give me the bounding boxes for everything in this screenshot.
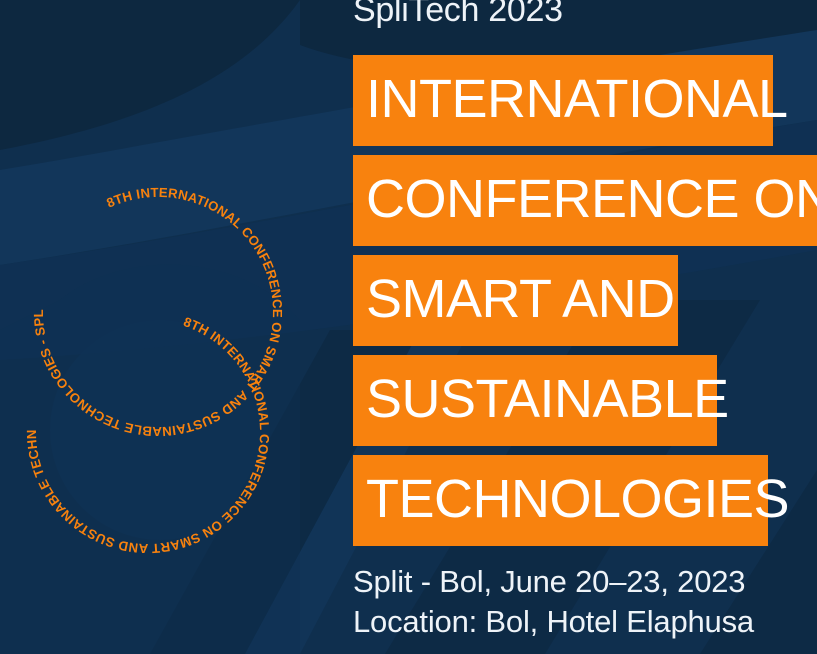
headline-bar-international: INTERNATIONAL xyxy=(353,55,773,146)
splitech-2023-poster: 8TH INTERNATIONAL CONFERENCE ON SMART AN… xyxy=(0,0,817,654)
headline-bar-sustainable: SUSTAINABLE xyxy=(353,355,717,446)
event-details: Split - Bol, June 20–23, 2023 Location: … xyxy=(353,562,754,641)
logo-svg: 8TH INTERNATIONAL CONFERENCE ON SMART AN… xyxy=(8,62,308,562)
logo-ring-text-lower: 8TH INTERNATIONAL CONFERENCE ON SMART AN… xyxy=(3,50,272,556)
event-location-line: Location: Bol, Hotel Elaphusa xyxy=(353,602,754,642)
headline-bar-label: CONFERENCE ON xyxy=(353,172,817,226)
event-dates-line: Split - Bol, June 20–23, 2023 xyxy=(353,562,754,602)
page-title: SpliTech 2023 xyxy=(353,0,563,27)
logo-ring-textpath-lower: 8TH INTERNATIONAL CONFERENCE ON SMART AN… xyxy=(3,50,272,556)
headline-bar-smart-and: SMART AND xyxy=(353,255,678,346)
logo-ring-textpath-upper: 8TH INTERNATIONAL CONFERENCE ON SMART AN… xyxy=(3,50,285,439)
poster-content-column: SpliTech 2023 INTERNATIONAL CONFERENCE O… xyxy=(353,0,817,654)
logo-ring-text-upper: 8TH INTERNATIONAL CONFERENCE ON SMART AN… xyxy=(3,50,285,439)
headline-bar-label: SMART AND xyxy=(353,272,675,326)
headline-bar-label: TECHNOLOGIES xyxy=(353,472,789,526)
headline-bar-conference-on: CONFERENCE ON xyxy=(353,155,817,246)
headline-bar-label: INTERNATIONAL xyxy=(353,72,788,126)
headline-bar-technologies: TECHNOLOGIES xyxy=(353,455,768,546)
conference-logo: 8TH INTERNATIONAL CONFERENCE ON SMART AN… xyxy=(8,62,308,562)
headline-bar-label: SUSTAINABLE xyxy=(353,372,729,426)
